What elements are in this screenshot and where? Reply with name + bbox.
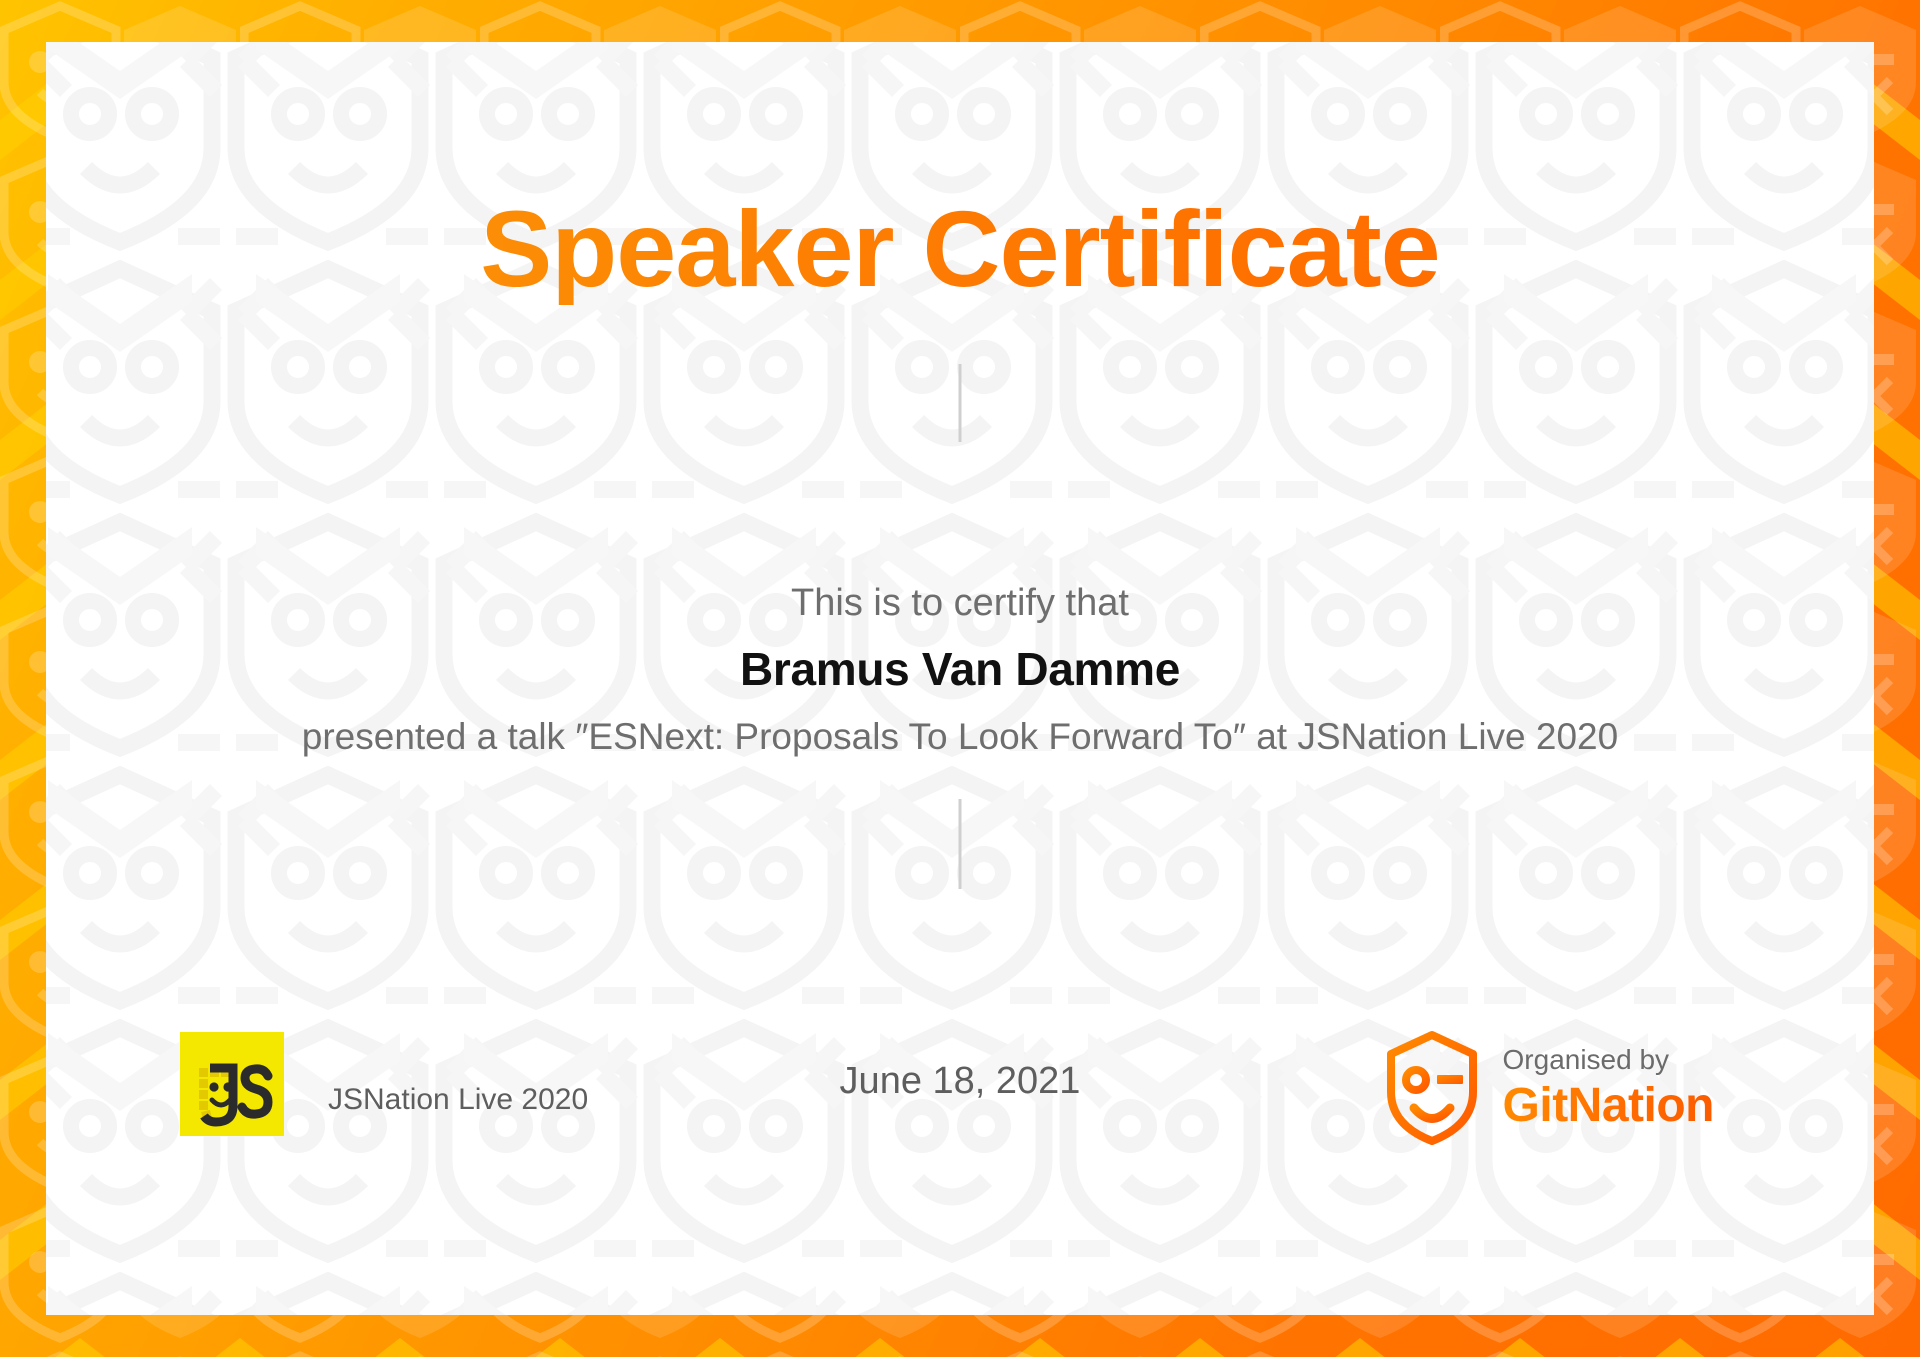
- divider-bottom: [959, 799, 962, 889]
- divider-top: [959, 364, 962, 442]
- gitnation-shield-icon: [1383, 1030, 1481, 1146]
- event-name: JSNation Live 2020: [328, 1051, 588, 1117]
- event-block: JSNation Live 2020: [180, 1032, 588, 1136]
- certificate-title: Speaker Certificate: [46, 192, 1874, 305]
- certificate-date: June 18, 2021: [840, 1060, 1081, 1103]
- gitnation-wordmark: GitNation: [1503, 1078, 1714, 1133]
- organiser-block: Organised by GitNation: [1383, 1030, 1714, 1146]
- certificate: Speaker Certificate This is to certify t…: [0, 0, 1920, 1357]
- organised-by-label: Organised by: [1503, 1044, 1714, 1076]
- js-logo-icon: [180, 1032, 284, 1136]
- recipient-name: Bramus Van Damme: [46, 642, 1874, 696]
- certify-line: This is to certify that: [46, 582, 1874, 625]
- talk-description: presented a talk ″ESNext: Proposals To L…: [46, 716, 1874, 758]
- certificate-card: Speaker Certificate This is to certify t…: [46, 42, 1874, 1315]
- certificate-footer: JSNation Live 2020 June 18, 2021: [46, 1022, 1874, 1222]
